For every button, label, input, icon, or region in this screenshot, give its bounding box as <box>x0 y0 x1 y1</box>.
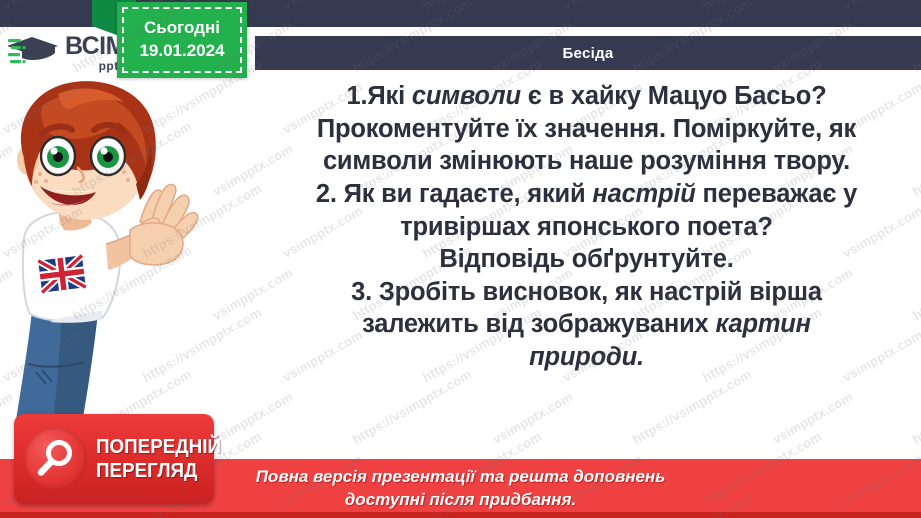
brand-logo[interactable]: ВСІМ pptx <box>8 30 120 76</box>
date-badge-date: 19.01.2024 <box>139 40 224 63</box>
date-badge-label: Сьогодні <box>144 17 220 40</box>
question-line: 3. Зробіть висновок, як настрій вірша <box>252 276 921 309</box>
graduation-cap-icon <box>8 33 62 73</box>
text-run: є в хайку Мацуо Басьо? <box>521 82 827 110</box>
question-line: символи змінюють наше розуміння твору. <box>252 145 921 178</box>
emphasis-term: настрій <box>592 180 695 208</box>
question-line: 1.Які символи є в хайку Мацуо Басьо? <box>252 80 921 113</box>
text-run: залежить від зображуваних <box>362 310 715 338</box>
text-run: переважає у <box>696 180 857 208</box>
slide-root: Бесіда ВСІМ pptx <box>0 0 921 518</box>
emphasis-term: природи. <box>529 343 644 371</box>
question-line: Прокоментуйте їх значення. Поміркуйте, я… <box>252 113 921 146</box>
preview-badge-line-2: ПЕРЕГЛЯД <box>96 461 221 481</box>
banner-line-2: доступні після придбання. <box>345 489 576 512</box>
slide-header-bar: Бесіда <box>255 36 921 70</box>
text-run: тривіршах японського поета? <box>400 213 773 241</box>
preview-badge[interactable]: ПОПЕРЕДНІЙ ПЕРЕГЛЯД <box>14 414 214 504</box>
text-run: символи змінюють наше розуміння твору. <box>323 147 850 175</box>
question-line: залежить від зображуваних картин <box>252 308 921 341</box>
preview-badge-line-1: ПОПЕРЕДНІЙ <box>96 437 221 457</box>
text-run: 2. Як ви гадаєте, який <box>316 180 593 208</box>
question-line: 2. Як ви гадаєте, який настрій переважає… <box>252 178 921 211</box>
text-run: Відповідь обґрунтуйте. <box>439 245 733 273</box>
magnifier-icon <box>25 428 87 490</box>
preview-badge-label: ПОПЕРЕДНІЙ ПЕРЕГЛЯД <box>96 437 229 481</box>
text-run: 3. Зробіть висновок, як настрій вірша <box>351 278 822 306</box>
banner-line-1: Повна версія презентації та решта доповн… <box>256 466 666 489</box>
text-run: Прокоментуйте їх значення. Поміркуйте, я… <box>317 115 856 143</box>
page-title: Бесіда <box>562 45 613 62</box>
question-text-block: 1.Які символи є в хайку Мацуо Басьо?Прок… <box>252 78 921 456</box>
cartoon-boy-illustration <box>2 72 254 434</box>
date-badge: Сьогодні 19.01.2024 <box>117 2 247 78</box>
question-line: природи. <box>252 341 921 374</box>
emphasis-term: символи <box>412 82 521 110</box>
question-line: тривіршах японського поета? <box>252 211 921 244</box>
question-line: Відповідь обґрунтуйте. <box>252 243 921 276</box>
emphasis-term: картин <box>715 310 810 338</box>
text-run: 1.Які <box>347 82 412 110</box>
